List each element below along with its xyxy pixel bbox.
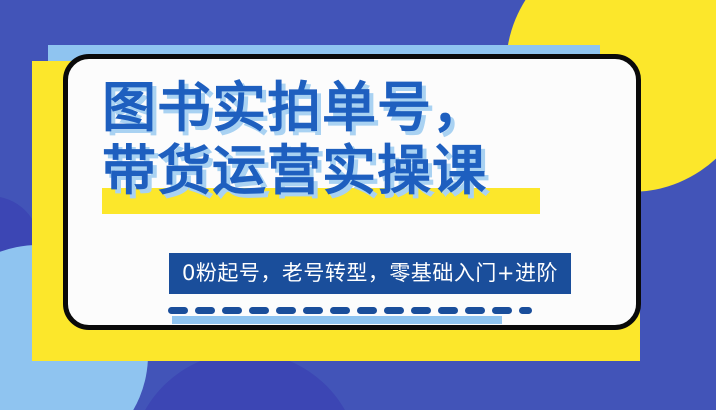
title-text-line-1: 图书实拍单号，: [102, 81, 487, 135]
dash-segment: [438, 307, 458, 314]
dash-segment: [330, 307, 350, 314]
dash-segment: [303, 307, 323, 314]
dash-segment: [465, 307, 485, 314]
dashed-divider: [168, 307, 532, 314]
poster-title-line-2: 带货运营实操课: [102, 144, 487, 198]
dash-segment: [168, 307, 188, 314]
dash-segment: [384, 307, 404, 314]
dash-segment: [249, 307, 269, 314]
dash-segment: [222, 307, 242, 314]
subtitle-banner: 0粉起号，老号转型，零基础入门+进阶: [169, 253, 571, 294]
course-poster: 图书实拍单号， 带货运营实操课 0粉起号，老号转型，零基础入门+进阶: [0, 0, 716, 410]
card-content: 图书实拍单号， 带货运营实操课 0粉起号，老号转型，零基础入门+进阶: [68, 59, 636, 325]
dash-segment: [519, 307, 532, 314]
white-card: 图书实拍单号， 带货运营实操课 0粉起号，老号转型，零基础入门+进阶: [63, 54, 641, 330]
dash-segment: [492, 307, 512, 314]
dash-segment: [357, 307, 377, 314]
title-text-line-2: 带货运营实操课: [102, 144, 487, 198]
poster-title-line-1: 图书实拍单号，: [102, 81, 487, 143]
dash-segment: [276, 307, 296, 314]
dash-segment: [195, 307, 215, 314]
subtitle-shadow-strip: [172, 316, 502, 324]
dash-segment: [411, 307, 431, 314]
